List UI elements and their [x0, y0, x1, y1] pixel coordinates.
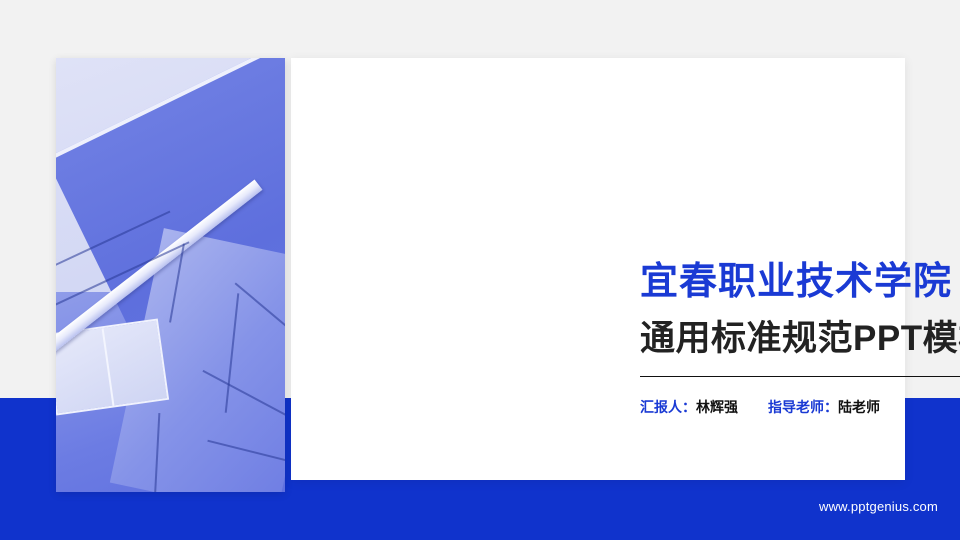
abstract-architecture-photo	[56, 58, 285, 492]
advisor-label: 指导老师：	[768, 399, 838, 415]
page-subtitle: 通用标准规范PPT模板	[640, 310, 960, 361]
presenter-name: 林辉强	[696, 399, 738, 415]
white-content-card: 宜春职业技术学院 YICHUN VOCATIONAL TECHNICAL COL…	[291, 58, 905, 480]
site-watermark: www.pptgenius.com	[819, 499, 938, 514]
presentation-slide: 宜春职业技术学院 YICHUN VOCATIONAL TECHNICAL COL…	[0, 0, 960, 540]
advisor-name: 陆老师	[838, 399, 880, 415]
page-title: 宜春职业技术学院	[640, 250, 952, 305]
presenter-label: 汇报人：	[640, 399, 696, 415]
title-divider	[640, 376, 960, 377]
byline: 汇报人：林辉强指导老师：陆老师	[640, 397, 880, 417]
